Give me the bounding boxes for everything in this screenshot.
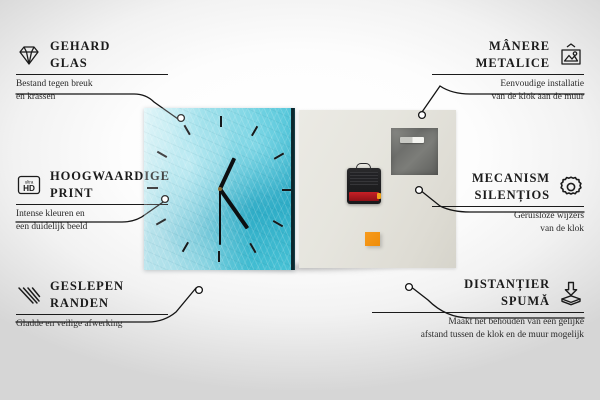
feature-title: GEHARD GLAS: [50, 38, 110, 71]
feature-subtitle-line2: afstand tussen de klok en de muur mogeli…: [372, 329, 584, 342]
hanger-slot: [400, 137, 424, 143]
feature-title: DISTANȚIER SPUMĂ: [372, 276, 550, 309]
feature-subtitle: Bestand tegen breuk en krassen: [16, 78, 168, 105]
feature-title-line2: RANDEN: [50, 295, 124, 312]
feature-header: GESLEPEN RANDEN: [16, 278, 168, 311]
diamond-icon: [16, 42, 42, 68]
feature-subtitle-line2: en krassen: [16, 91, 168, 104]
picture-frame-hanger-icon: [558, 42, 584, 68]
clock-movement: [347, 168, 381, 204]
feature-subtitle: Gladde en veilige afwerking: [16, 318, 168, 331]
feature-tempered-glass: GEHARD GLAS Bestand tegen breuk en krass…: [16, 38, 168, 105]
connector-endpoint-edges: [196, 287, 203, 294]
infographic-stage: GEHARD GLAS Bestand tegen breuk en krass…: [0, 0, 600, 400]
feature-metal-handles: MÂNERE METALICE Eenvoudige installatie v…: [432, 38, 584, 105]
feature-subtitle-line1: Maakt het behouden van een gelijke: [372, 316, 584, 329]
feature-subtitle: Maakt het behouden van een gelijke afsta…: [372, 316, 584, 343]
feature-header: DISTANȚIER SPUMĂ: [372, 276, 584, 309]
movement-grille: [350, 172, 378, 185]
clock-face: [144, 108, 295, 270]
feature-title-line2: SPUMĂ: [372, 293, 550, 310]
feature-rule: [432, 206, 584, 207]
feature-title: MÂNERE METALICE: [476, 38, 550, 71]
feature-subtitle: Geruisloze wijzers van de klok: [432, 210, 584, 237]
feature-header: GEHARD GLAS: [16, 38, 168, 71]
feature-title: MECANISM SILENȚIOS: [472, 170, 550, 203]
feature-title-line2: METALICE: [476, 55, 550, 72]
feature-rule: [16, 314, 168, 315]
feature-title-line1: GEHARD: [50, 38, 110, 55]
ultra-hd-icon: ultra HD: [16, 172, 42, 198]
feature-subtitle-line1: Bestand tegen breuk: [16, 78, 168, 91]
metal-hanger-plate: [391, 128, 438, 175]
feature-polished-edges: GESLEPEN RANDEN Gladde en veilige afwerk…: [16, 278, 168, 331]
feature-subtitle-line2: van de klok aan de muur: [432, 91, 584, 104]
feature-title-line1: MÂNERE: [476, 38, 550, 55]
svg-text:HD: HD: [23, 184, 35, 193]
beveled-edge-icon: [16, 282, 42, 308]
feature-title-line1: DISTANȚIER: [372, 276, 550, 293]
feature-header: MÂNERE METALICE: [432, 38, 584, 71]
feature-rule: [432, 74, 584, 75]
feature-subtitle-line1: Eenvoudige installatie: [432, 78, 584, 91]
feature-title-line2: GLAS: [50, 55, 110, 72]
gear-icon: [558, 174, 584, 200]
feature-silent-mechanism: MECANISM SILENȚIOS Geruisloze wijzers va…: [432, 170, 584, 237]
feature-rule: [16, 74, 168, 75]
hanger-loop: [356, 163, 371, 171]
feature-title-line1: MECANISM: [472, 170, 550, 187]
feature-subtitle-line1: Gladde en veilige afwerking: [16, 318, 168, 331]
feature-header: MECANISM SILENȚIOS: [432, 170, 584, 203]
foam-spacer: [365, 232, 380, 246]
feature-title: GESLEPEN RANDEN: [50, 278, 124, 311]
feature-title-line1: GESLEPEN: [50, 278, 124, 295]
feature-subtitle-line2: van de klok: [432, 223, 584, 236]
feature-rule: [372, 312, 584, 313]
feature-foam-spacer: DISTANȚIER SPUMĂ Maakt het behouden van …: [372, 276, 584, 343]
battery: [349, 192, 379, 201]
product-image: [144, 108, 456, 273]
hand-cap: [218, 187, 222, 191]
feature-title-line2: SILENȚIOS: [472, 187, 550, 204]
feature-subtitle-line1: Geruisloze wijzers: [432, 210, 584, 223]
arrow-down-stack-icon: [558, 280, 584, 306]
feature-subtitle: Eenvoudige installatie van de klok aan d…: [432, 78, 584, 105]
